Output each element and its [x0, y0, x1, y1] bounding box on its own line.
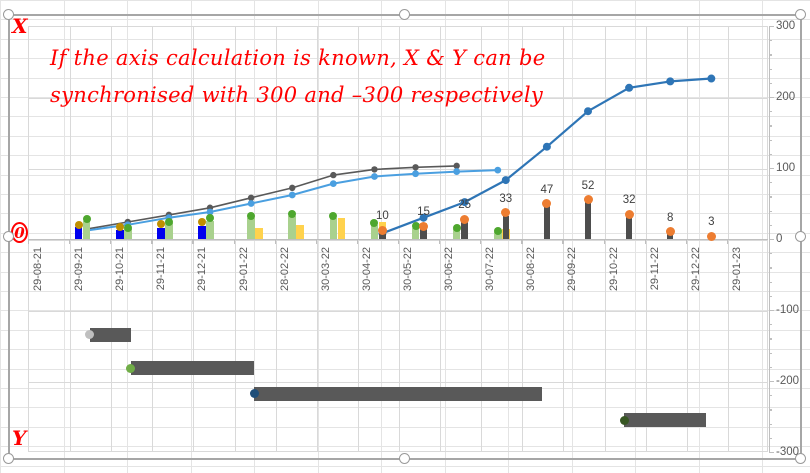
x-axis-label: 30-04-22 — [361, 247, 373, 291]
x-axis-tick — [275, 239, 276, 244]
x-axis-tick — [604, 239, 605, 244]
sheet-gridline-h — [0, 0, 810, 1]
y-axis-tick — [769, 239, 774, 240]
resize-handle-middle-left[interactable] — [3, 231, 14, 242]
resize-handle-top-left[interactable] — [3, 9, 14, 20]
x-axis-label: 29-08-21 — [32, 247, 44, 291]
x-marker-label: X — [12, 14, 28, 38]
x-axis-label: 30-08-22 — [525, 247, 537, 291]
y-axis-minor-tick — [769, 353, 772, 354]
resize-handle-bottom-center[interactable] — [399, 453, 410, 464]
x-axis-label: 29-10-21 — [114, 247, 126, 291]
annotation-line-1: If the axis calculation is known, X & Y … — [50, 40, 610, 77]
y-axis-minor-tick — [769, 54, 772, 55]
y-axis-tick — [769, 26, 774, 27]
y-axis-minor-tick — [769, 83, 772, 84]
x-axis-label: 29-11-22 — [649, 247, 661, 290]
x-axis-label: 29-09-21 — [73, 247, 85, 291]
red-annotation: If the axis calculation is known, X & Y … — [50, 40, 610, 114]
y-axis-minor-tick — [769, 409, 772, 410]
annotation-line-2: synchronised with 300 and –300 respectiv… — [50, 77, 610, 114]
x-axis-label: 30-05-22 — [402, 247, 414, 291]
sheet-gridline-h — [0, 466, 810, 467]
y-axis-label: -100 — [776, 304, 799, 316]
resize-handle-bottom-right[interactable] — [795, 453, 806, 464]
x-axis-tick — [110, 239, 111, 244]
x-axis-tick — [316, 239, 317, 244]
y-axis-minor-tick — [769, 253, 772, 254]
x-axis-tick — [28, 239, 29, 244]
x-axis-tick — [645, 239, 646, 244]
x-axis-tick — [480, 239, 481, 244]
zero-marker-label: 0 — [11, 222, 28, 243]
y-axis-label: 0 — [776, 233, 782, 245]
x-axis-label: 30-03-22 — [320, 247, 332, 291]
y-axis-tick — [769, 310, 774, 311]
x-axis-tick — [357, 239, 358, 244]
x-axis-tick — [521, 239, 522, 244]
x-axis-label: 29-12-21 — [196, 247, 208, 291]
gridline-horizontal — [29, 169, 767, 170]
y-axis-minor-tick — [769, 395, 772, 396]
x-axis-label: 29-01-22 — [238, 247, 250, 291]
y-axis-minor-tick — [769, 324, 772, 325]
y-axis-minor-tick — [769, 424, 772, 425]
x-axis-tick — [398, 239, 399, 244]
y-axis-tick — [769, 381, 774, 382]
x-axis-tick — [234, 239, 235, 244]
y-axis-tick — [769, 97, 774, 98]
y-axis-minor-tick — [769, 196, 772, 197]
x-axis-tick — [439, 239, 440, 244]
y-axis-minor-tick — [769, 225, 772, 226]
y-axis-minor-tick — [769, 438, 772, 439]
y-axis-minor-tick — [769, 140, 772, 141]
gridline-horizontal — [29, 311, 767, 312]
y-axis-minor-tick — [769, 40, 772, 41]
x-axis-tick — [192, 239, 193, 244]
x-axis-label: 29-09-22 — [566, 247, 578, 291]
y-axis-minor-tick — [769, 338, 772, 339]
y-axis-minor-tick — [769, 125, 772, 126]
x-axis-label: 29-11-21 — [155, 247, 167, 290]
y-axis-minor-tick — [769, 111, 772, 112]
excel-chart-object[interactable]: 3002001000-100-200-30029-08-2129-09-2129… — [0, 0, 810, 473]
y-axis-minor-tick — [769, 211, 772, 212]
x-axis-label: 30-07-22 — [484, 247, 496, 291]
x-axis-tick — [69, 239, 70, 244]
y-marker-label: Y — [12, 426, 26, 450]
resize-handle-bottom-left[interactable] — [3, 453, 14, 464]
x-axis-label: 28-02-22 — [279, 247, 291, 291]
y-axis-tick — [769, 452, 774, 453]
resize-handle-top-center[interactable] — [399, 9, 410, 20]
x-axis-label: 29-01-23 — [731, 247, 743, 291]
y-axis-minor-tick — [769, 267, 772, 268]
resize-handle-top-right[interactable] — [795, 9, 806, 20]
x-axis-tick — [686, 239, 687, 244]
y-axis-minor-tick — [769, 367, 772, 368]
y-axis-tick — [769, 168, 774, 169]
y-axis-minor-tick — [769, 282, 772, 283]
y-axis-label: -200 — [776, 375, 799, 387]
y-axis-minor-tick — [769, 296, 772, 297]
sheet-gridline-v — [0, 0, 1, 473]
x-axis-tick — [151, 239, 152, 244]
y-axis-label: 100 — [776, 162, 795, 174]
x-axis-label: 29-12-22 — [690, 247, 702, 291]
resize-handle-middle-right[interactable] — [795, 231, 806, 242]
y-axis-minor-tick — [769, 69, 772, 70]
y-axis-minor-tick — [769, 154, 772, 155]
x-axis-label: 29-10-22 — [608, 247, 620, 291]
y-axis-label: 200 — [776, 91, 795, 103]
gridline-horizontal — [29, 382, 767, 383]
y-axis-label: 300 — [776, 20, 795, 32]
y-axis-minor-tick — [769, 182, 772, 183]
x-axis-tick — [562, 239, 563, 244]
x-axis-tick — [727, 239, 728, 244]
x-axis-label: 30-06-22 — [443, 247, 455, 291]
